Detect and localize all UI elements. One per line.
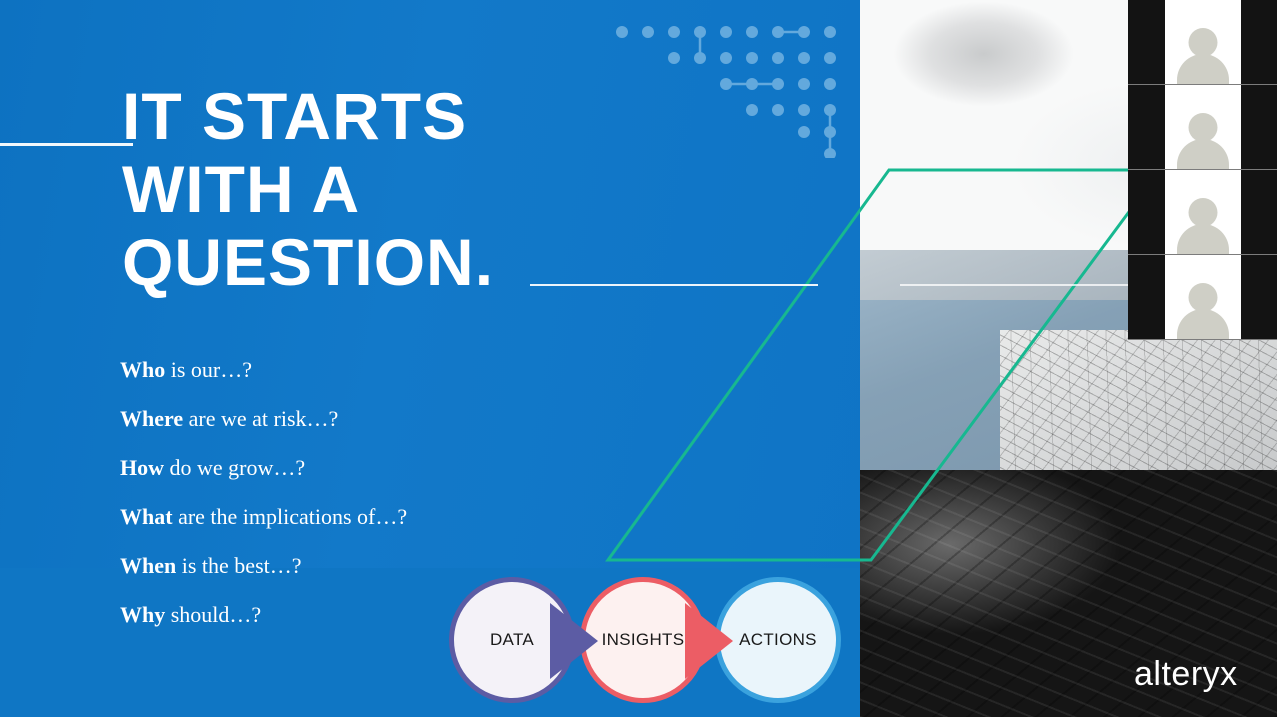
- flow-step-label: DATA: [490, 630, 534, 650]
- avatar: [1165, 255, 1241, 339]
- person-icon-head: [1189, 283, 1218, 312]
- person-icon-head: [1189, 28, 1218, 57]
- person-icon-body: [1177, 224, 1229, 254]
- person-icon-head: [1189, 198, 1218, 227]
- question-rest: should…?: [165, 602, 261, 627]
- alteryx-logo: alteryx: [1134, 655, 1238, 694]
- flow-step-label: ACTIONS: [739, 630, 817, 650]
- avatar: [1165, 0, 1241, 84]
- participant-tile[interactable]: [1128, 170, 1277, 255]
- person-icon-body: [1177, 309, 1229, 339]
- dot-grid-decoration: [610, 18, 850, 158]
- participant-tile[interactable]: [1128, 85, 1277, 170]
- person-icon-body: [1177, 54, 1229, 84]
- question-rest: is our…?: [165, 357, 252, 382]
- question-keyword: Why: [120, 602, 165, 627]
- question-keyword: Who: [120, 357, 165, 382]
- person-icon-head: [1189, 113, 1218, 142]
- question-keyword: When: [120, 553, 176, 578]
- headline-left-rule: [0, 143, 133, 146]
- flow-step-label: INSIGHTS: [602, 630, 685, 650]
- participant-video-strip: [1128, 0, 1277, 341]
- avatar: [1165, 85, 1241, 169]
- presentation-slide: IT STARTS WITH A QUESTION. Who is our…? …: [0, 0, 1277, 717]
- headline-line-3: QUESTION.: [122, 226, 842, 299]
- list-item: What are the implications of…?: [120, 503, 620, 531]
- question-keyword: What: [120, 504, 173, 529]
- list-item: Who is our…?: [120, 356, 620, 384]
- question-keyword: How: [120, 455, 164, 480]
- question-rest: are the implications of…?: [173, 504, 408, 529]
- question-keyword: Where: [120, 406, 183, 431]
- question-rest: do we grow…?: [164, 455, 305, 480]
- headline-line-2: WITH A: [122, 153, 842, 226]
- question-rest: are we at risk…?: [183, 406, 338, 431]
- participant-tile[interactable]: [1128, 0, 1277, 85]
- avatar: [1165, 170, 1241, 254]
- person-icon: [1175, 277, 1231, 339]
- data-insights-actions-diagram: DATA INSIGHTS ACTIONS: [449, 577, 849, 705]
- person-icon-body: [1177, 139, 1229, 169]
- question-rest: is the best…?: [176, 553, 301, 578]
- list-item: How do we grow…?: [120, 454, 620, 482]
- participant-tile[interactable]: [1128, 255, 1277, 340]
- person-icon: [1175, 192, 1231, 254]
- list-item: When is the best…?: [120, 552, 620, 580]
- list-item: Where are we at risk…?: [120, 405, 620, 433]
- person-icon: [1175, 107, 1231, 169]
- person-icon: [1175, 22, 1231, 84]
